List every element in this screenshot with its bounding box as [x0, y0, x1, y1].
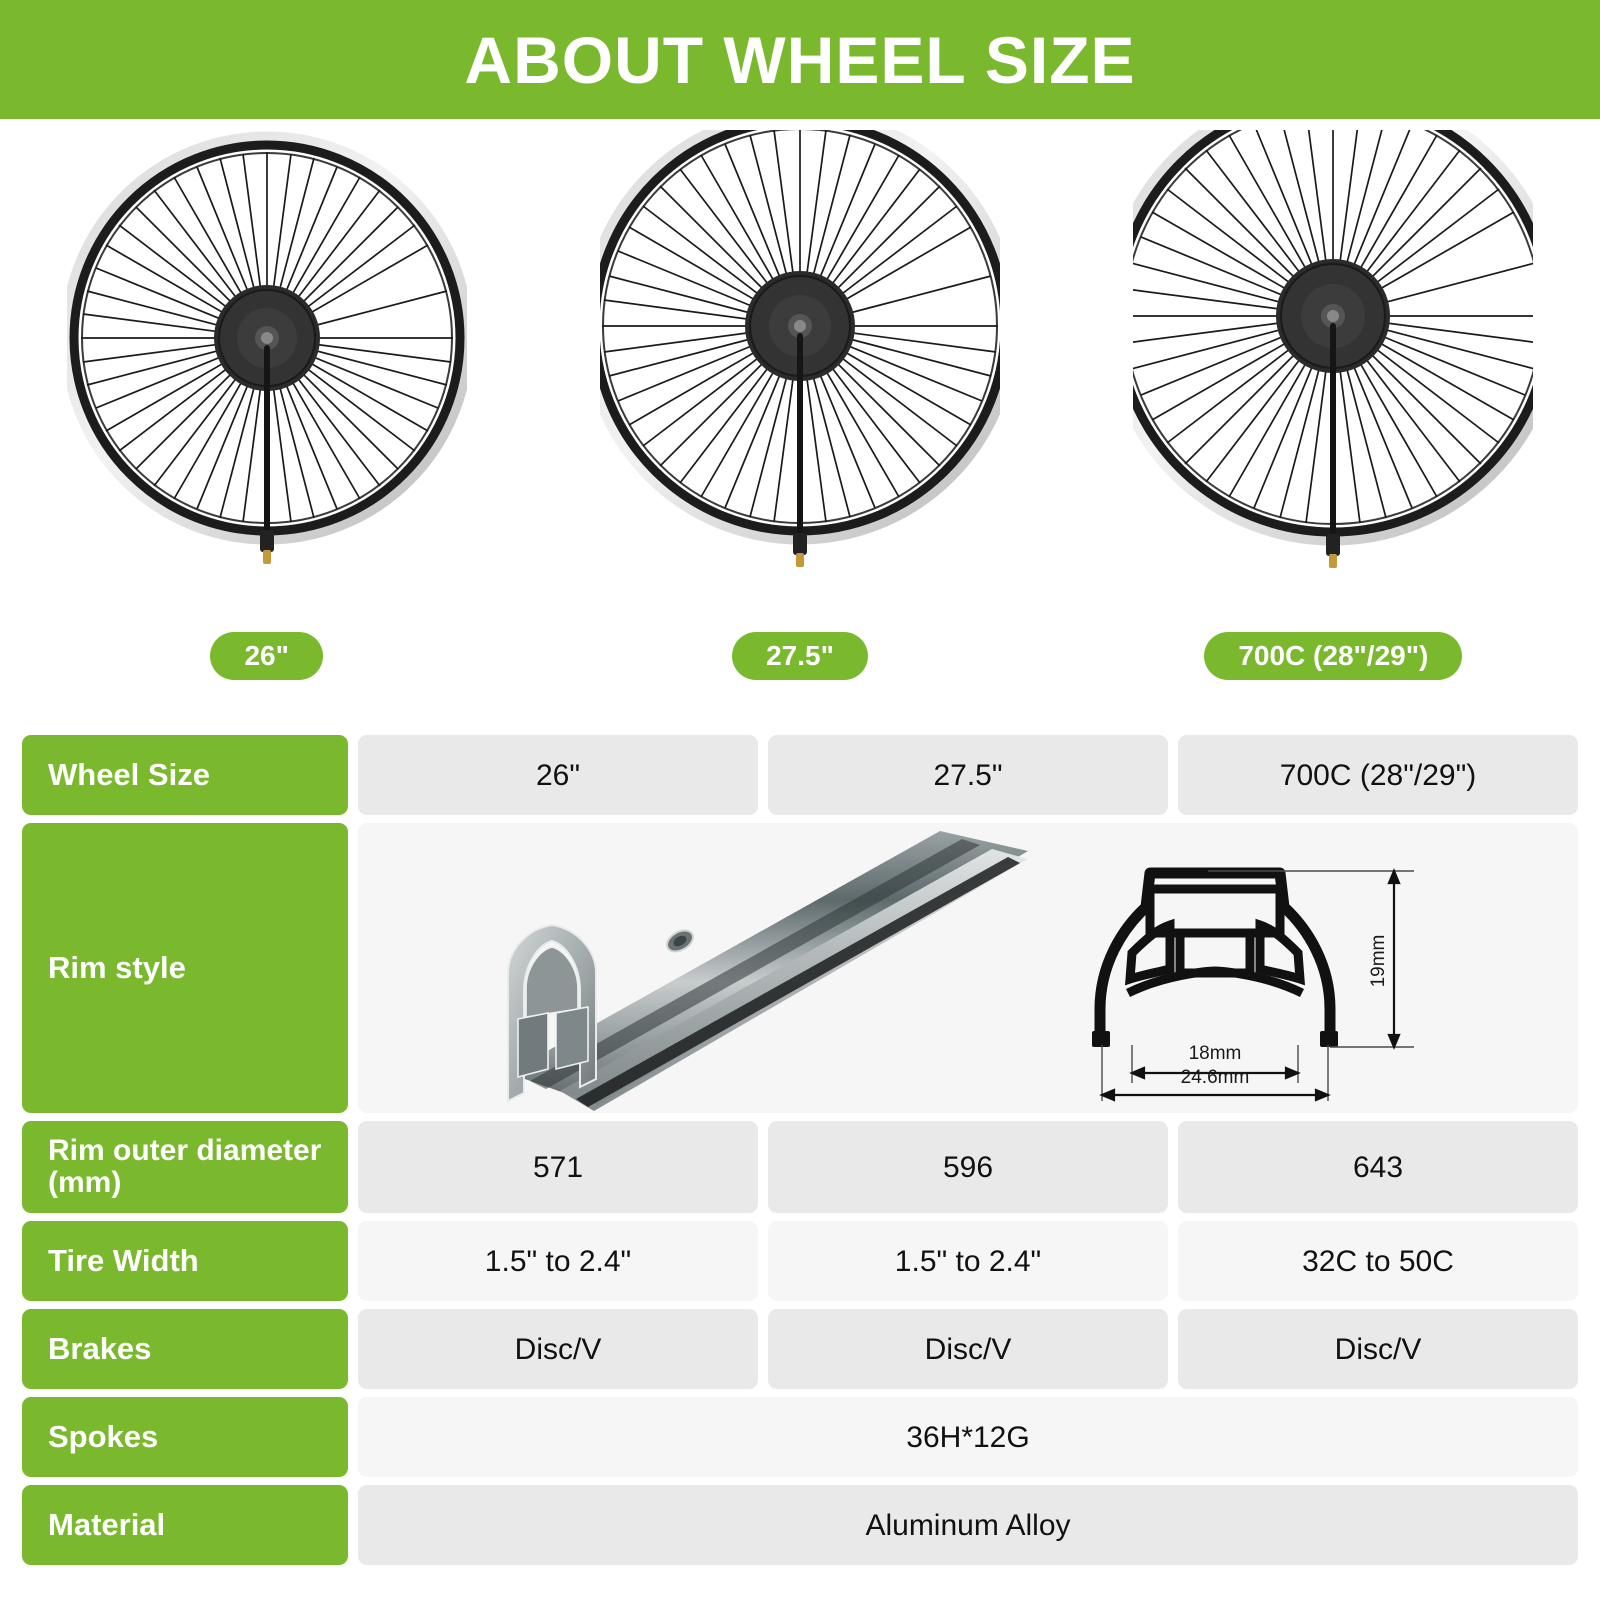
wheel-size-infographic: ABOUT WHEEL SIZE	[0, 0, 1600, 1600]
wheel-image-700c	[1067, 130, 1600, 630]
dim-label-inner-width: 18mm	[1189, 1043, 1242, 1064]
pill-label-27-5[interactable]: 27.5"	[732, 632, 868, 679]
pill-label-26[interactable]: 26"	[210, 632, 322, 679]
row-label-rim-style: Rim style	[22, 823, 348, 1113]
row-cells: 26" 27.5" 700C (28"/29")	[358, 735, 1578, 815]
table-row: Wheel Size 26" 27.5" 700C (28"/29")	[22, 735, 1578, 815]
cell-tire-width-700c: 32C to 50C	[1178, 1221, 1578, 1301]
page-title: ABOUT WHEEL SIZE	[464, 27, 1135, 93]
bicycle-wheel-icon	[67, 130, 467, 630]
bicycle-wheel-icon	[1133, 130, 1533, 630]
cell-tire-width-27-5: 1.5" to 2.4"	[768, 1221, 1168, 1301]
cell-tire-width-26: 1.5" to 2.4"	[358, 1221, 758, 1301]
row-label-wheel-size: Wheel Size	[22, 735, 348, 815]
pill-label-700c[interactable]: 700C (28"/29")	[1204, 632, 1462, 679]
cell-spokes-all: 36H*12G	[358, 1397, 1578, 1477]
spec-table: Wheel Size 26" 27.5" 700C (28"/29") Rim …	[22, 735, 1578, 1573]
pill-cell-26: 26"	[0, 632, 533, 680]
row-cells: Disc/V Disc/V Disc/V	[358, 1309, 1578, 1389]
wheel-image-27-5	[533, 130, 1066, 630]
cell-diameter-26: 571	[358, 1121, 758, 1213]
dim-label-height: 19mm	[1368, 935, 1389, 988]
cell-diameter-700c: 643	[1178, 1121, 1578, 1213]
row-cells: 1.5" to 2.4" 1.5" to 2.4" 32C to 50C	[358, 1221, 1578, 1301]
row-label-brakes: Brakes	[22, 1309, 348, 1389]
page-header: ABOUT WHEEL SIZE	[0, 0, 1600, 119]
row-cells: 571 596 643	[358, 1121, 1578, 1213]
pill-cell-27-5: 27.5"	[533, 632, 1066, 680]
rim-style-content: 19mm 18mm	[358, 823, 1578, 1113]
table-row: Spokes 36H*12G	[22, 1397, 1578, 1477]
cell-brakes-27-5: Disc/V	[768, 1309, 1168, 1389]
cell-wheel-size-700c: 700C (28"/29")	[1178, 735, 1578, 815]
table-row: Rim style	[22, 823, 1578, 1113]
row-label-rim-outer-diameter: Rim outer diameter (mm)	[22, 1121, 348, 1213]
cell-rim-style: 19mm 18mm	[358, 823, 1578, 1113]
table-row: Tire Width 1.5" to 2.4" 1.5" to 2.4" 32C…	[22, 1221, 1578, 1301]
rim-photo	[380, 823, 1030, 1113]
wheel-size-pill-row: 26" 27.5" 700C (28"/29")	[0, 632, 1600, 680]
bicycle-wheel-icon	[600, 130, 1000, 630]
table-row: Brakes Disc/V Disc/V Disc/V	[22, 1309, 1578, 1389]
row-cells: 19mm 18mm	[358, 823, 1578, 1113]
cell-brakes-26: Disc/V	[358, 1309, 758, 1389]
table-row: Rim outer diameter (mm) 571 596 643	[22, 1121, 1578, 1213]
row-label-tire-width: Tire Width	[22, 1221, 348, 1301]
row-cells: Aluminum Alloy	[358, 1485, 1578, 1565]
cell-brakes-700c: Disc/V	[1178, 1309, 1578, 1389]
cell-wheel-size-26: 26"	[358, 735, 758, 815]
row-cells: 36H*12G	[358, 1397, 1578, 1477]
cell-material-all: Aluminum Alloy	[358, 1485, 1578, 1565]
dim-label-outer-width: 24.6mm	[1181, 1067, 1250, 1088]
wheel-images-row	[0, 130, 1600, 630]
rim-cross-section-diagram: 19mm 18mm	[1058, 833, 1478, 1103]
row-label-material: Material	[22, 1485, 348, 1565]
row-label-spokes: Spokes	[22, 1397, 348, 1477]
cell-wheel-size-27-5: 27.5"	[768, 735, 1168, 815]
cell-diameter-27-5: 596	[768, 1121, 1168, 1213]
pill-cell-700c: 700C (28"/29")	[1067, 632, 1600, 680]
table-row: Material Aluminum Alloy	[22, 1485, 1578, 1565]
wheel-image-26	[0, 130, 533, 630]
